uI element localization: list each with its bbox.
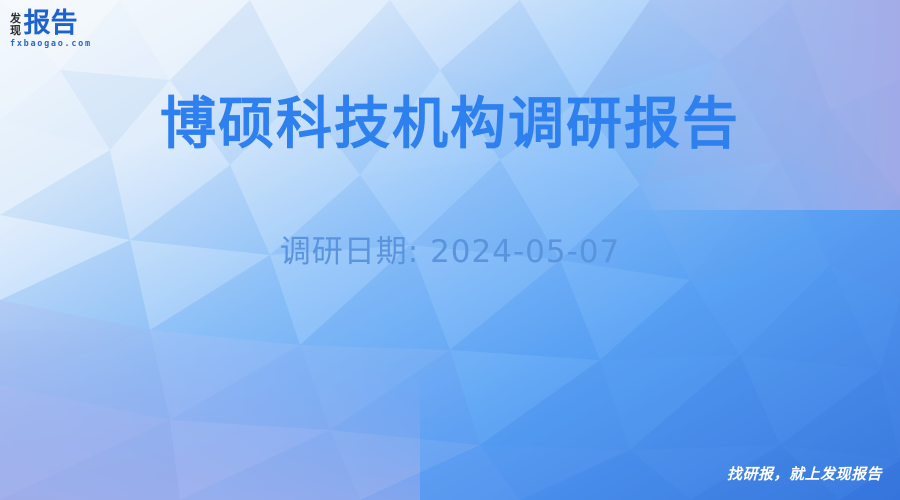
report-cover-slide: 发 现 报告 fxbaogao.com 博硕科技机构调研报告 调研日期: 202… (0, 0, 900, 500)
logo-wordmark-row: 发 现 报告 (10, 8, 140, 38)
brand-logo[interactable]: 发 现 报告 fxbaogao.com (10, 8, 140, 52)
low-poly-background (0, 0, 900, 500)
logo-mark-char-2: 现 (10, 25, 21, 37)
logo-mark-stack: 发 现 (10, 13, 21, 38)
logo-wordmark: 报告 (24, 10, 78, 38)
footer-slogan: 找研报，就上发现报告 (727, 464, 882, 484)
logo-domain-text: fxbaogao.com (10, 39, 140, 49)
